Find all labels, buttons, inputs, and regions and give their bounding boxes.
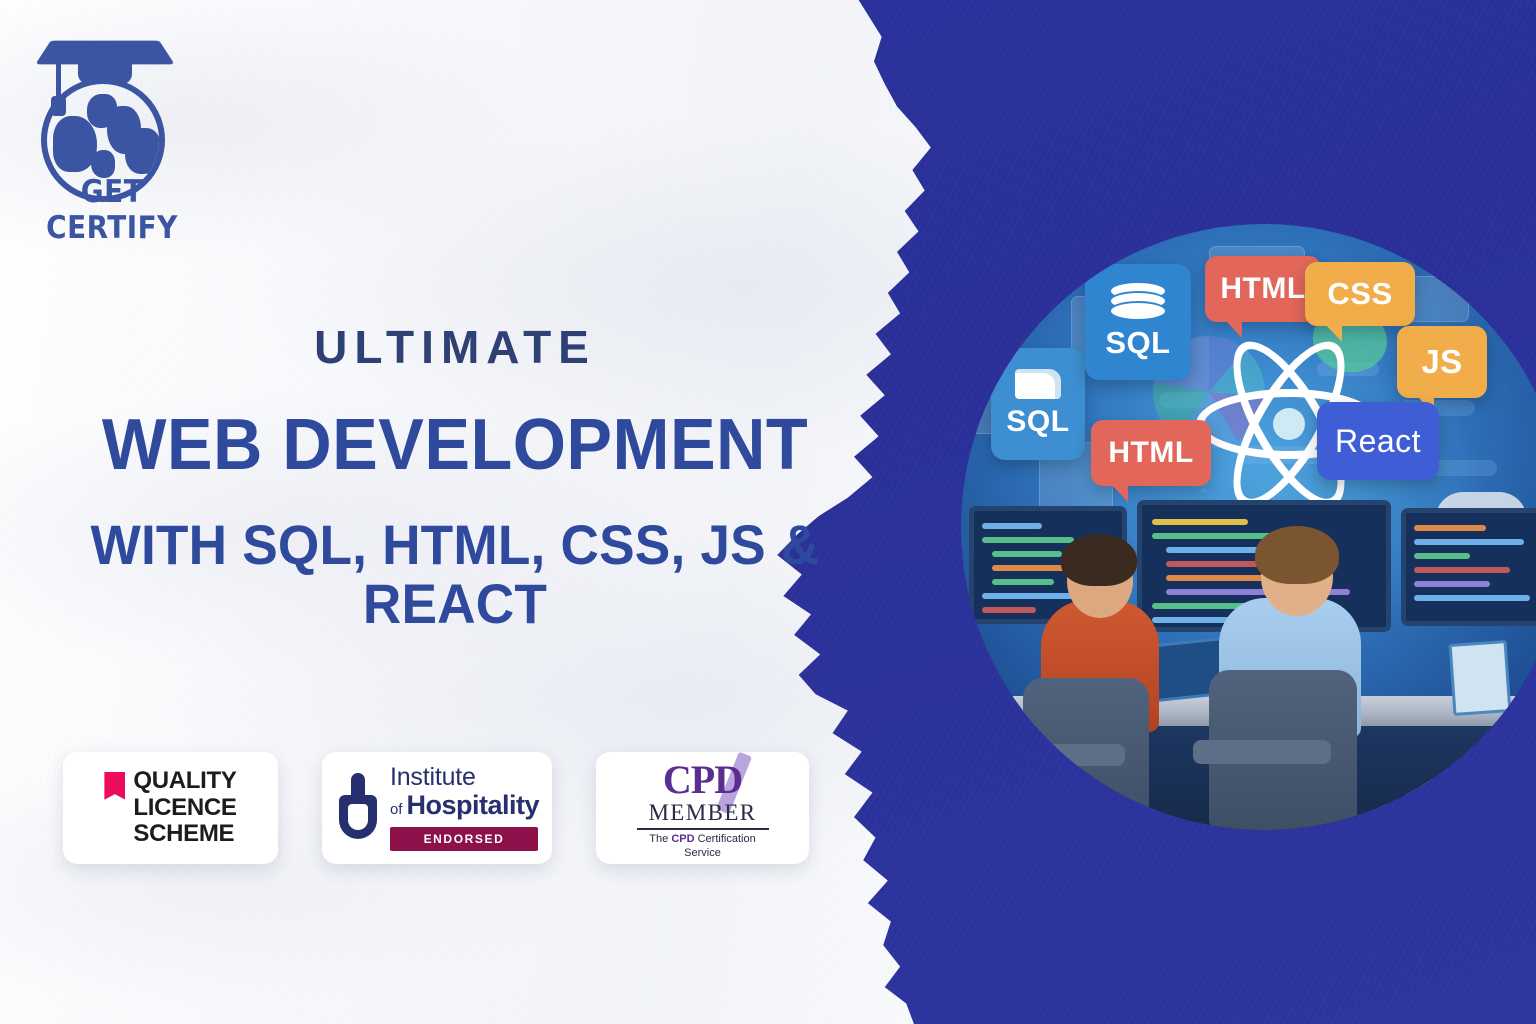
brand-logo[interactable]: GET CERTIFY [14, 26, 210, 202]
badge-quality-licence-scheme[interactable]: QUALITY LICENCE SCHEME [63, 752, 278, 864]
chip-label: JS [1421, 343, 1462, 381]
chip-label: HTML [1220, 272, 1305, 306]
chip-html-lower: HTML [1091, 420, 1211, 486]
course-promo-banner: SQL SQL HTML HTML CSS JS Re [0, 0, 1536, 1024]
ioh-line-2: Hospitality [406, 790, 539, 821]
cpd-subtitle: The CPD Certification Service [649, 833, 755, 861]
chip-sql-file: SQL [991, 348, 1085, 460]
headline-main: WEB DEVELOPMENT [23, 409, 888, 482]
chip-react: React [1317, 402, 1439, 480]
qls-line-3: SCHEME [133, 821, 236, 848]
file-icon [1015, 369, 1061, 399]
chip-html-upper: HTML [1205, 256, 1321, 322]
headline-kicker: ULTIMATE [0, 322, 910, 373]
bookmark-icon [104, 772, 125, 800]
chip-label: React [1335, 423, 1421, 460]
qls-line-1: QUALITY [133, 768, 236, 795]
database-icon [1111, 283, 1165, 321]
crest-icon [335, 773, 381, 843]
cpd-sub-line2: Service [649, 847, 755, 861]
workstation-scene [961, 500, 1536, 830]
cpd-sub-pre: The [649, 833, 671, 845]
chip-js: JS [1397, 326, 1487, 398]
ioh-of: of [390, 801, 403, 818]
chip-label: SQL [1105, 325, 1170, 361]
accreditation-badges: QUALITY LICENCE SCHEME Institute of Hosp… [63, 752, 809, 864]
book-on-desk [1449, 640, 1512, 716]
chair-arm-left [1009, 744, 1125, 766]
chip-label: CSS [1327, 276, 1392, 312]
qls-line-2: LICENCE [133, 795, 236, 822]
hero-circle-image: SQL SQL HTML HTML CSS JS Re [961, 224, 1536, 830]
chip-sql-database: SQL [1085, 264, 1191, 380]
cpd-acronym: CPD [663, 760, 742, 800]
cpd-sub-post: Certification [695, 833, 756, 845]
cpd-divider [637, 828, 769, 830]
chip-css: CSS [1305, 262, 1415, 326]
badge-institute-of-hospitality[interactable]: Institute of Hospitality ENDORSED [322, 752, 552, 864]
cpd-sub-acronym: CPD [671, 833, 694, 845]
headline-sub: WITH SQL, HTML, CSS, JS & REACT [23, 516, 888, 634]
cpd-member-label: MEMBER [648, 800, 756, 825]
ioh-line-1: Institute [390, 765, 539, 790]
monitor-right [1401, 508, 1536, 626]
badge-cpd-member[interactable]: CPD MEMBER The CPD Certification Service [596, 752, 809, 864]
chip-label: SQL [1006, 405, 1069, 439]
headline-block: ULTIMATE WEB DEVELOPMENT WITH SQL, HTML,… [0, 322, 910, 634]
chair-arm-right [1193, 740, 1331, 764]
chip-label: HTML [1108, 436, 1193, 470]
logo-text: GET CERTIFY [14, 174, 210, 246]
ioh-endorsed-ribbon: ENDORSED [390, 827, 538, 851]
